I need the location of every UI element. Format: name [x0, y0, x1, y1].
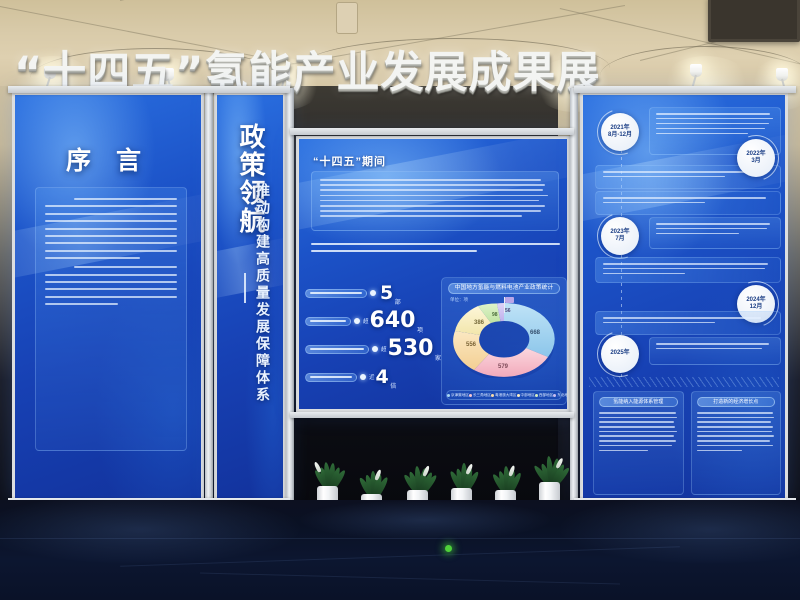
- booth-post: [205, 88, 213, 506]
- panel-center-overview[interactable]: “十四五”期间 5: [296, 136, 570, 412]
- timeline-date-line2: 8月-12月: [608, 132, 632, 140]
- chart-marker-flag: [504, 297, 505, 313]
- stat-row: 超 530 家: [305, 335, 441, 363]
- timeline-date-line1: 2022年: [746, 151, 765, 159]
- stat-prefix: 超: [363, 317, 369, 325]
- stat-value: 640: [370, 310, 416, 332]
- legend-label: 西部地区: [539, 393, 553, 398]
- panel-policy-timeline[interactable]: 2021年 8月-12月 2022年 3月: [580, 92, 788, 504]
- booth-post: [570, 88, 578, 506]
- legend-label: 东北地区: [557, 393, 570, 398]
- stat-unit: 倍: [390, 381, 396, 390]
- slice-label: 386: [474, 320, 485, 326]
- timeline-date-line1: 2021年: [610, 125, 629, 133]
- preface-title: 序 言: [15, 141, 201, 177]
- bullet-dot: [372, 346, 378, 352]
- ceiling-fixture: [336, 2, 358, 34]
- timeline-bar: [595, 257, 781, 283]
- slice-label: 556: [466, 342, 477, 348]
- highlight-card[interactable]: 打造新的经济增长点: [691, 391, 782, 495]
- stat-unit: 部: [395, 297, 401, 306]
- legend-item: 东北地区: [553, 393, 570, 398]
- legend-item: 长三角地区: [469, 393, 491, 398]
- booth-rail: [290, 128, 574, 135]
- potted-plant: [528, 434, 570, 508]
- bullet-dot: [354, 318, 360, 324]
- timeline-node[interactable]: 2021年 8月-12月: [601, 113, 639, 151]
- banner: “十四五”氢能产业发展成果展: [0, 38, 700, 90]
- legend-item: 粤港澳大湾区: [491, 393, 517, 398]
- chart-legend: 京津冀地区 长三角地区 粤港澳大湾区 中部地区 西部地区 东北地区: [446, 390, 562, 400]
- exhibition-scene: “十四五”氢能产业发展成果展 序 言: [0, 0, 800, 600]
- booth-rail: [8, 86, 290, 93]
- legend-label: 长三角地区: [473, 393, 491, 398]
- floor-marker-light: [445, 545, 452, 552]
- stat-row: 超 640 项: [305, 307, 441, 335]
- booth-rail: [290, 412, 574, 418]
- center-intro-card: [311, 171, 559, 231]
- policy-subtitle: 推动构建高质量发展保障体系: [253, 183, 273, 404]
- timeline-date-line2: 3月: [751, 158, 760, 166]
- stat-row: 5 部: [305, 279, 441, 307]
- timeline-card: [649, 337, 781, 365]
- ceiling-monitor: [708, 0, 800, 42]
- timeline-date-line1: 2025年: [610, 350, 629, 358]
- spotlight: [776, 68, 788, 84]
- decorative-hatch: [589, 377, 779, 387]
- bullet-dot: [360, 374, 366, 380]
- slice-label: 579: [498, 364, 509, 370]
- timeline-date-line1: 2024年: [746, 297, 765, 305]
- timeline-date-line2: 7月: [615, 236, 624, 244]
- policy-statistics-chart[interactable]: 中国地方氢能与燃料电池产业政策统计 单位：项: [441, 277, 567, 405]
- timeline-node[interactable]: 2022年 3月: [737, 139, 775, 177]
- stat-value: 530: [388, 338, 434, 360]
- timeline-card: [649, 217, 781, 249]
- legend-label: 中部地区: [521, 393, 535, 398]
- legend-item: 西部地区: [535, 393, 553, 398]
- policy-divider: [244, 273, 246, 303]
- timeline-date-line1: 2023年: [610, 229, 629, 237]
- highlight-card[interactable]: 氢能纳入能源体系管理: [593, 391, 684, 495]
- center-heading: “十四五”期间: [313, 153, 386, 169]
- slice-label: 668: [530, 330, 541, 336]
- timeline-node[interactable]: 2025年: [601, 335, 639, 373]
- timeline-bar: [595, 191, 781, 215]
- legend-item: 京津冀地区: [447, 393, 469, 398]
- legend-item: 中部地区: [517, 393, 535, 398]
- stat-prefix: 近: [369, 373, 375, 381]
- panel-preface[interactable]: 序 言: [12, 92, 204, 502]
- center-stats: 5 部 超 640 项 超 530 家: [305, 279, 441, 391]
- slice-label: 98: [492, 312, 498, 318]
- timeline-bottom-cards: 氢能纳入能源体系管理 打造新的经济增长点: [593, 391, 781, 495]
- exhibition-floor: [0, 500, 800, 600]
- center-subtext: [311, 243, 563, 257]
- legend-label: 京津冀地区: [451, 393, 469, 398]
- booth-rail: [574, 86, 796, 93]
- stat-prefix: 超: [381, 345, 387, 353]
- timeline-node[interactable]: 2023年 7月: [601, 217, 639, 255]
- stat-value: 5: [380, 284, 393, 303]
- highlight-card-title: 氢能纳入能源体系管理: [599, 397, 678, 407]
- stat-row: 近 4 倍: [305, 363, 441, 391]
- slice-label: 56: [505, 308, 511, 314]
- preface-body: [35, 187, 187, 451]
- legend-label: 粤港澳大湾区: [495, 393, 517, 398]
- donut-chart: 668 579 556 386 98 56: [452, 300, 556, 378]
- stat-value: 4: [376, 368, 389, 387]
- panel-policy-navigation[interactable]: 政策领航 推动构建高质量发展保障体系: [214, 92, 286, 504]
- highlight-card-title: 打造新的经济增长点: [697, 397, 776, 407]
- bullet-dot: [370, 290, 376, 296]
- chart-title: 中国地方氢能与燃料电池产业政策统计: [448, 283, 560, 294]
- booth-post: [286, 88, 294, 506]
- stat-unit: 项: [417, 325, 423, 334]
